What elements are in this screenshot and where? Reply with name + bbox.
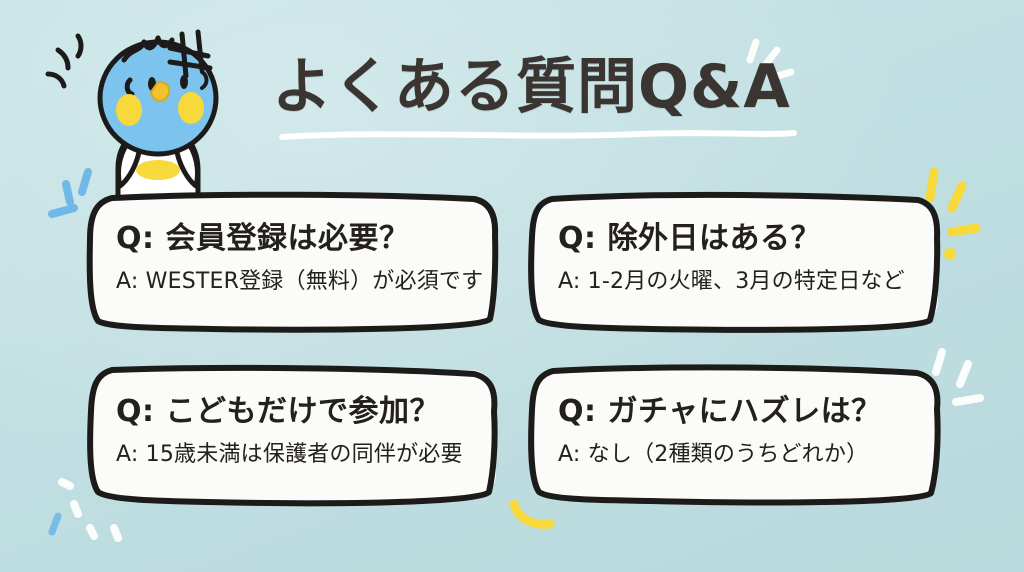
faq-card-3-content: Q: こどもだけで参加？ A: 15歳未満は保護者の同伴が必要: [116, 392, 476, 472]
faq-card-2[interactable]: Q: 除外日はある？ A: 1-2月の火曜、3月の特定日など: [532, 197, 938, 327]
faq-card-4-question: Q: ガチャにハズレは？: [558, 392, 918, 432]
faq-card-1-content: Q: 会員登録は必要？ A: WESTER登録（無料）が必須です: [116, 219, 476, 299]
stroke-yellow-bottom-center-icon: [508, 498, 568, 538]
faq-card-3-answer: A: 15歳未満は保護者の同伴が必要: [116, 438, 476, 472]
sparkle-blue-bottom-left-icon: [40, 508, 100, 568]
faq-card-1-question: Q: 会員登録は必要？: [116, 219, 476, 259]
faq-card-3-question: Q: こどもだけで参加？: [116, 392, 476, 432]
title-underline: [278, 128, 798, 142]
faq-card-4-content: Q: ガチャにハズレは？ A: なし（2種類のうちどれか）: [558, 392, 918, 472]
faq-card-2-question: Q: 除外日はある？: [558, 219, 918, 259]
sparkle-white-right-middle-icon: [926, 336, 1006, 426]
faq-card-1[interactable]: Q: 会員登録は必要？ A: WESTER登録（無料）が必須です: [90, 197, 496, 327]
faq-card-2-content: Q: 除外日はある？ A: 1-2月の火曜、3月の特定日など: [558, 219, 918, 299]
faq-slide: よくある質問Q&A: [0, 0, 1024, 572]
title-block: よくある質問Q&A: [272, 52, 832, 152]
faq-card-1-answer: A: WESTER登録（無料）が必須です: [116, 265, 476, 299]
faq-card-4[interactable]: Q: ガチャにハズレは？ A: なし（2種類のうちどれか）: [532, 370, 938, 500]
faq-card-2-answer: A: 1-2月の火曜、3月の特定日など: [558, 265, 918, 299]
blue-bird-mascot: [58, 18, 258, 208]
faq-card-3[interactable]: Q: こどもだけで参加？ A: 15歳未満は保護者の同伴が必要: [90, 370, 496, 500]
page-title: よくある質問Q&A: [272, 52, 832, 122]
faq-card-4-answer: A: なし（2種類のうちどれか）: [558, 438, 918, 472]
